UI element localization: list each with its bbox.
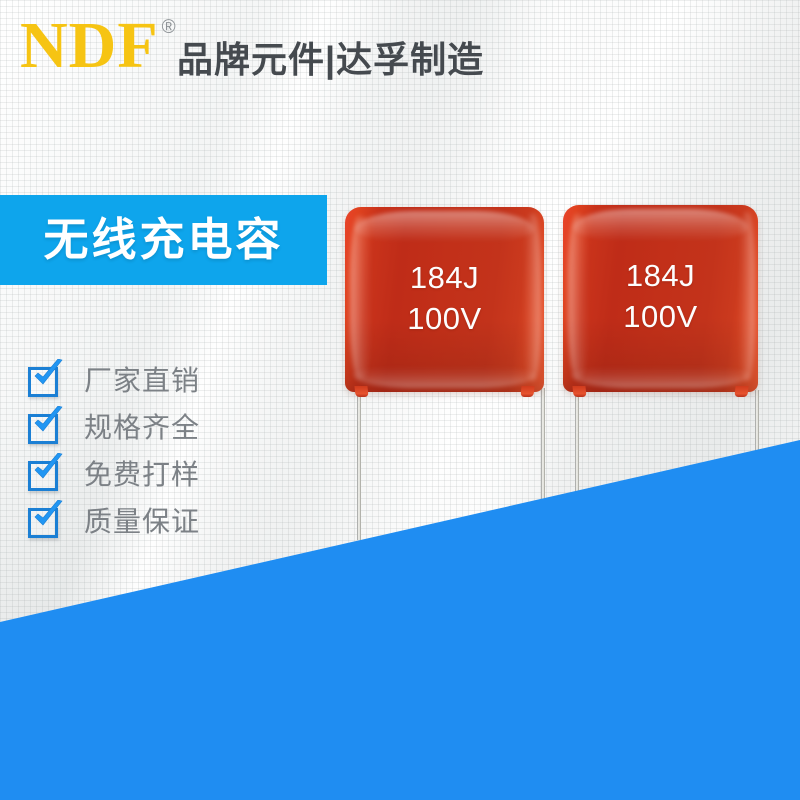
capacitor-left-marking: 184J 100V (345, 257, 544, 339)
feature-label: 免费打样 (84, 459, 200, 491)
capacitor-right-voltage: 100V (563, 296, 758, 337)
capacitor-left: 184J 100V (345, 207, 544, 392)
brand-logo: NDF ® (20, 12, 176, 80)
list-item: 规格齐全 (28, 404, 288, 451)
feature-list: 厂家直销 规格齐全 免费打样 (28, 357, 288, 545)
feature-label: 规格齐全 (84, 412, 200, 444)
list-item: 厂家直销 (28, 357, 288, 404)
gloss-highlight-top (573, 209, 749, 241)
list-item: 质量保证 (28, 498, 288, 545)
list-item: 免费打样 (28, 451, 288, 498)
checkbox-checked-icon (28, 458, 62, 492)
capacitor-right: 184J 100V (563, 205, 758, 392)
brand-header: NDF ® 品牌元件|达孚制造 (0, 0, 800, 108)
capacitor-right-foot-1 (572, 386, 586, 397)
capacitor-left-foot-2 (520, 386, 534, 397)
capacitor-left-lead-1 (357, 388, 361, 540)
capacitor-left-voltage: 100V (345, 298, 544, 339)
registered-trademark-icon: ® (162, 18, 176, 37)
feature-label: 厂家直销 (84, 365, 200, 397)
checkbox-checked-icon (28, 411, 62, 445)
capacitor-left-foot-1 (354, 386, 368, 397)
gloss-highlight-bottom (353, 366, 536, 388)
brand-logo-text: NDF (20, 12, 159, 80)
capacitor-right-body: 184J 100V (563, 205, 758, 392)
headline-banner: 无线充电容 (0, 195, 327, 285)
brand-tagline: 品牌元件|达孚制造 (177, 38, 484, 82)
capacitor-right-foot-2 (734, 386, 748, 397)
gloss-highlight-top (355, 211, 534, 242)
capacitor-left-body: 184J 100V (345, 207, 544, 392)
product-promo-image: NDF ® 品牌元件|达孚制造 无线充电容 厂家直销 (0, 0, 800, 800)
capacitor-right-marking: 184J 100V (563, 255, 758, 337)
headline-banner-text: 无线充电容 (43, 214, 283, 266)
capacitor-left-code: 184J (345, 257, 544, 298)
gloss-highlight-bottom (571, 366, 750, 388)
checkbox-checked-icon (28, 505, 62, 539)
checkbox-checked-icon (28, 364, 62, 398)
feature-label: 质量保证 (84, 506, 200, 538)
capacitor-right-code: 184J (563, 255, 758, 296)
